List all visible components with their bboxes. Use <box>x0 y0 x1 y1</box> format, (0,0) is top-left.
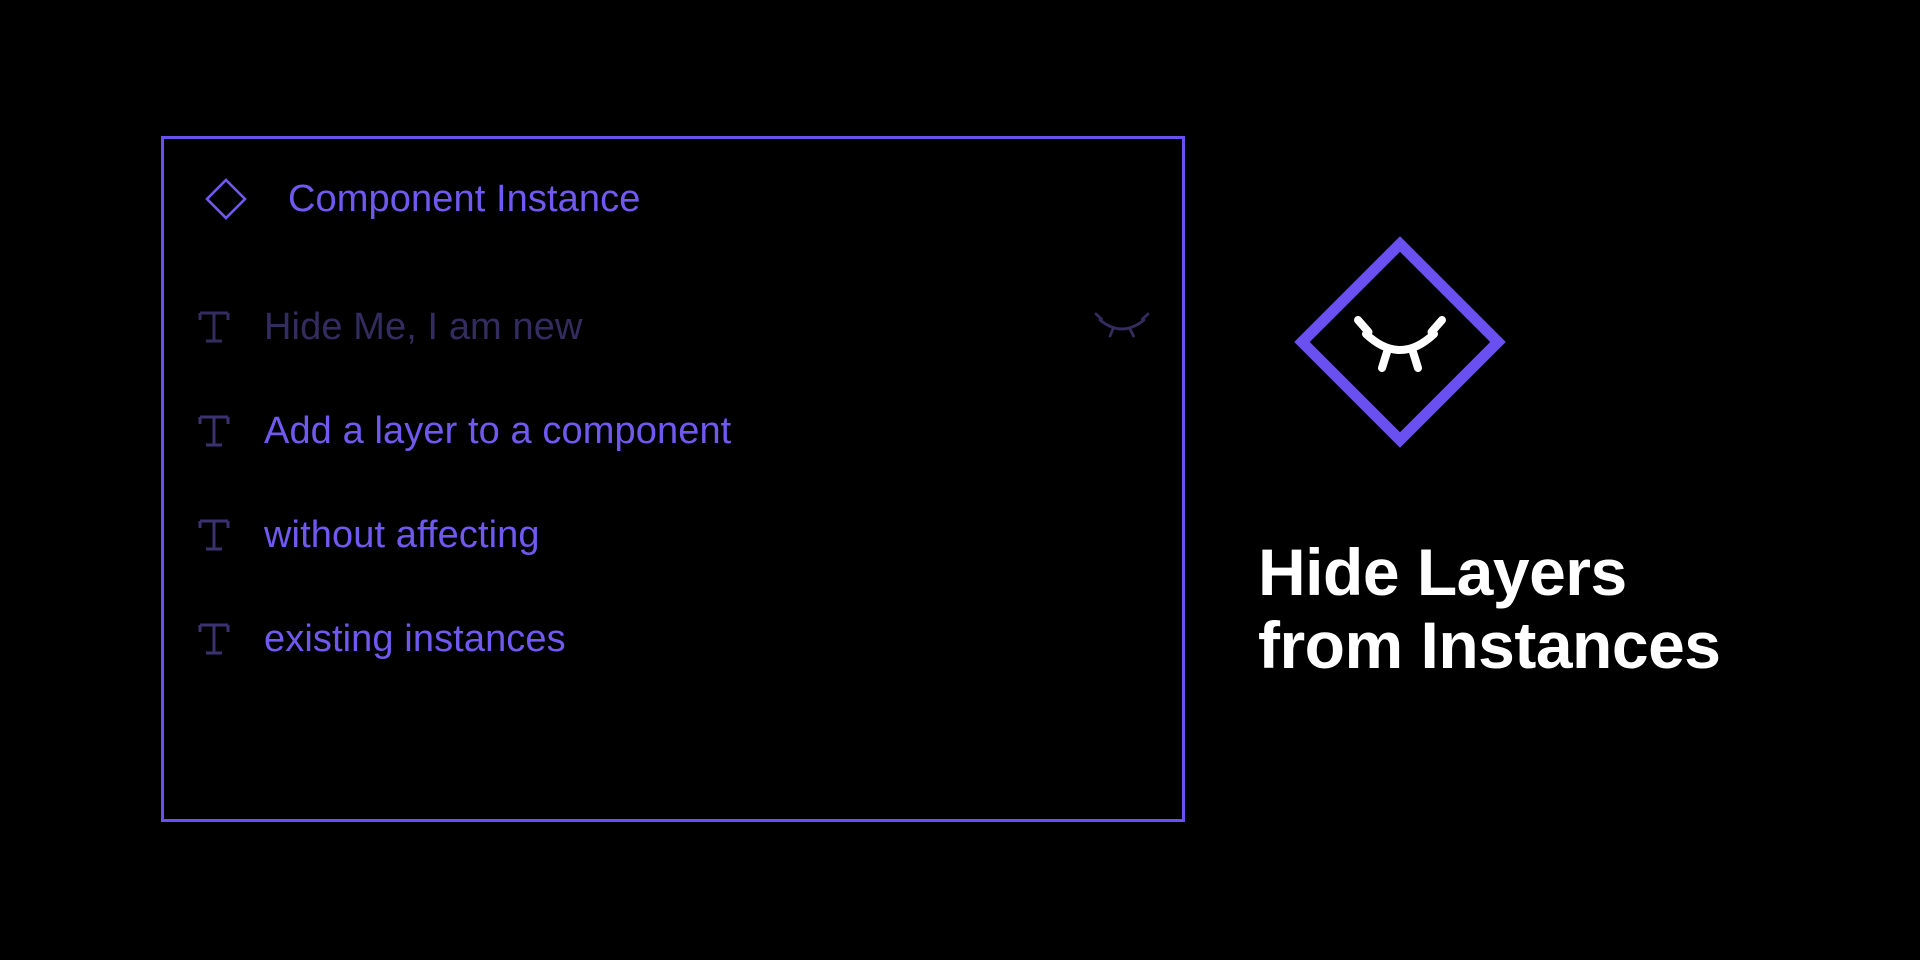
hero-headline: Hide Layers from Instances <box>1258 536 1858 683</box>
layer-row-add-a-layer[interactable]: Add a layer to a component <box>164 401 1182 461</box>
diamond-icon <box>164 177 288 221</box>
layer-label-hide-me: Hide Me, I am new <box>264 306 582 349</box>
hero-headline-line-1: Hide Layers <box>1258 536 1858 609</box>
layer-label-add-a-layer: Add a layer to a component <box>264 410 731 453</box>
text-layer-icon <box>164 619 264 659</box>
eye-closed-icon <box>1358 320 1442 368</box>
hero-diamond-badge <box>1294 236 1506 448</box>
diamond-icon <box>1302 244 1498 440</box>
eye-closed-icon[interactable] <box>1062 310 1182 344</box>
text-layer-icon <box>164 515 264 555</box>
layers-panel: Component Instance Hide Me, I am new <box>161 136 1185 822</box>
hero-headline-line-2: from Instances <box>1258 609 1858 682</box>
layer-row-without-affecting[interactable]: without affecting <box>164 505 1182 565</box>
layer-row-hide-me[interactable]: Hide Me, I am new <box>164 297 1182 357</box>
layer-row-existing-instances[interactable]: existing instances <box>164 609 1182 669</box>
hero-block: Hide Layers from Instances <box>1258 236 1858 683</box>
layer-label-without-affecting: without affecting <box>264 514 540 557</box>
layer-row-component-instance[interactable]: Component Instance <box>164 169 1182 229</box>
text-layer-icon <box>164 307 264 347</box>
text-layer-icon <box>164 411 264 451</box>
layer-label-existing-instances: existing instances <box>264 618 566 661</box>
layer-label-component-instance: Component Instance <box>288 178 640 221</box>
